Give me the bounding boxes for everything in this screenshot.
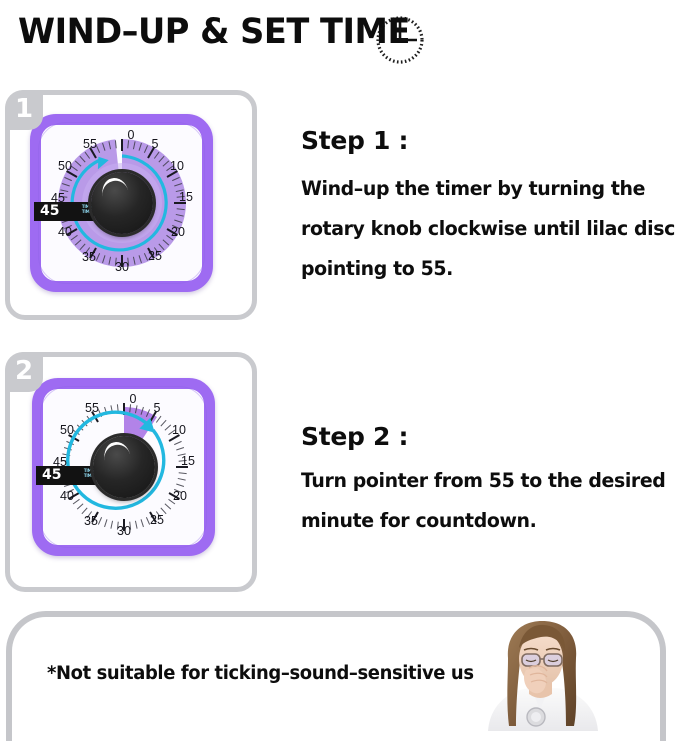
dial-number-10: 10 [172,423,186,437]
dial-number-40: 40 [60,489,74,503]
dial-number-35: 35 [84,514,98,528]
dial-number-5: 5 [151,137,158,151]
woman-pinching-nose-photo [474,618,606,731]
dial-number-20: 20 [171,225,185,239]
dial-number-30: 30 [115,260,129,274]
dial-number-50: 50 [58,159,72,173]
step-1-body-line-3: pointing to 55. [301,249,675,289]
dial-number-40: 40 [58,225,72,239]
timer-illustration-step-2: 0 5 10 15 20 25 30 35 40 45 50 55 45 TIM… [32,378,215,556]
step-badge-2: 2 [5,352,43,392]
page-header: WIND–UP & SET TIME [18,8,658,72]
step-1-body-line-1: Wind–up the timer by turning the [301,169,675,209]
clock-icon [374,14,426,66]
dial-number-20: 20 [173,489,187,503]
rotary-knob[interactable] [91,172,153,234]
dial-number-35: 35 [82,250,96,264]
step-2-body-line-1: Turn pointer from 55 to the desired [301,461,665,501]
step-1-body-line-2: rotary knob clockwise until lilac disc [301,209,675,249]
step-2-heading: Step 2 : [301,422,677,451]
dial-number-25: 25 [148,249,162,263]
step-1-text: Step 1 : Wind–up the timer by turning th… [301,126,679,289]
timer-side-label: 45 TIMETIME [34,202,94,221]
dial-number-0: 0 [127,128,134,142]
dial-number-30: 30 [117,524,131,538]
footer-note: *Not suitable for ticking–sound–sensitiv… [47,663,511,684]
side-label-value: 45 [40,203,59,219]
dial-number-5: 5 [153,401,160,415]
step-1-heading: Step 1 : [301,126,679,155]
dial-number-10: 10 [170,159,184,173]
rotary-knob[interactable] [93,436,155,498]
step-2-text: Step 2 : Turn pointer from 55 to the des… [301,422,677,541]
page-title: WIND–UP & SET TIME [18,12,410,52]
dial-number-15: 15 [181,454,195,468]
dial-number-55: 55 [85,401,99,415]
dial-number-15: 15 [179,190,193,204]
step-2-body-line-2: minute for countdown. [301,501,665,541]
dial-number-0: 0 [129,392,136,406]
dial-number-50: 50 [60,423,74,437]
timer-illustration-step-1: 0 5 10 15 20 25 30 35 40 45 50 55 45 TIM… [30,114,213,292]
dial-number-55: 55 [83,137,97,151]
side-label-value: 45 [42,467,61,483]
step-badge-1: 1 [5,90,43,130]
dial-number-25: 25 [150,513,164,527]
timer-side-label: 45 TIMETIME [36,466,96,485]
